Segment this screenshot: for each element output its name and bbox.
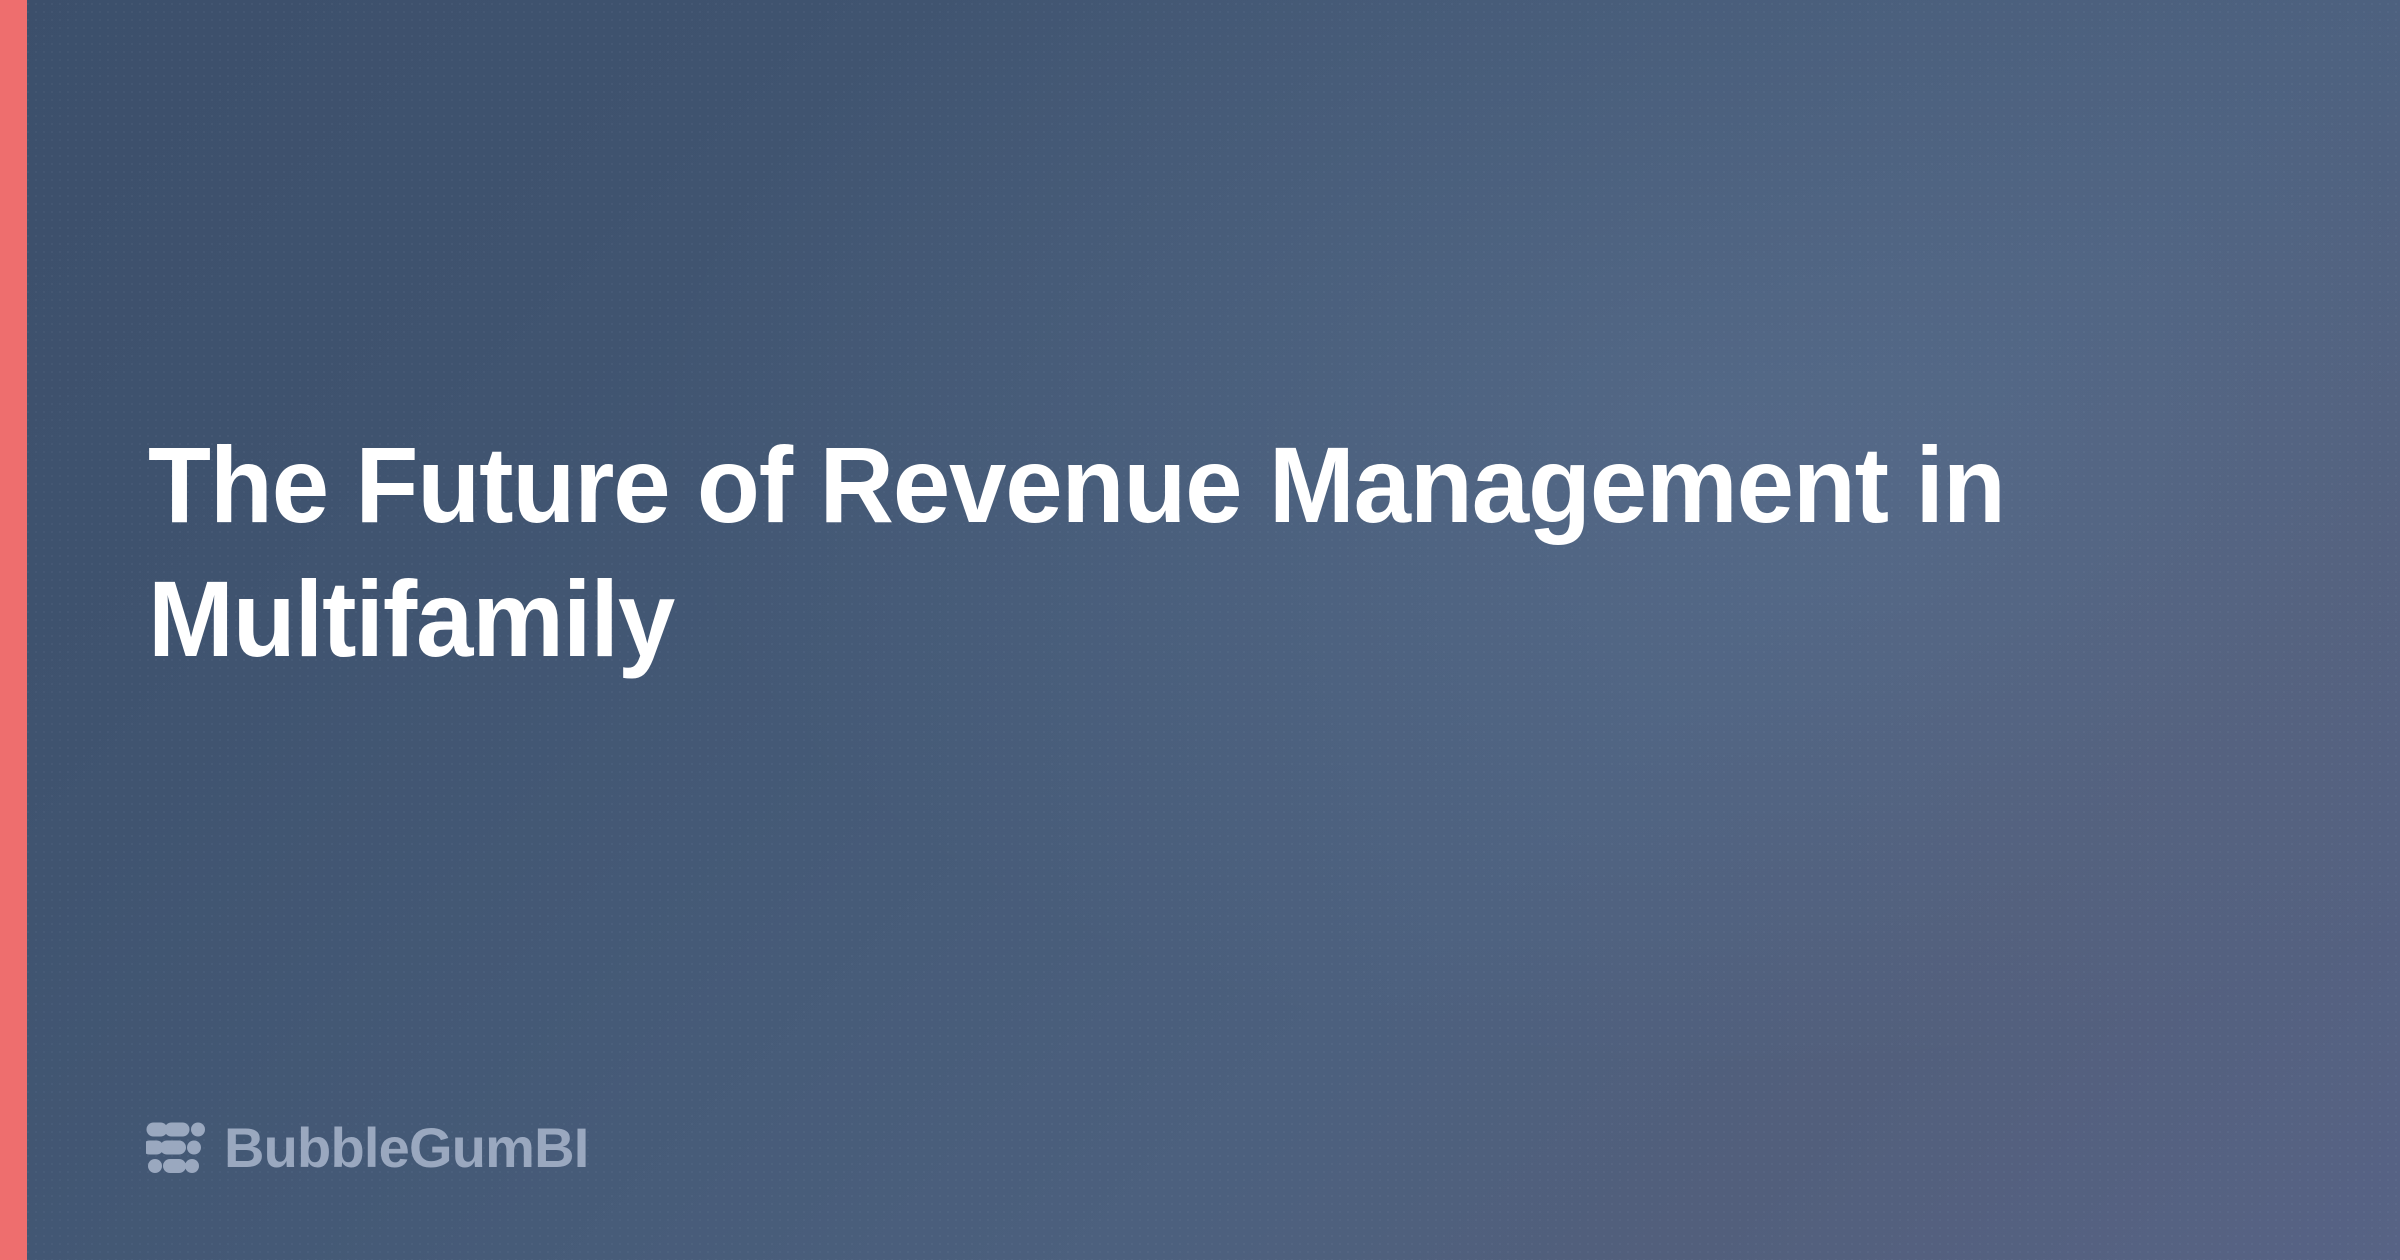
title-slide: The Future of Revenue Management in Mult… bbox=[0, 0, 2400, 1260]
bubble-grid-logo-icon bbox=[146, 1120, 206, 1176]
page-title: The Future of Revenue Management in Mult… bbox=[148, 418, 2115, 686]
brand-lockup: BubbleGumBI bbox=[146, 1120, 589, 1176]
brand-name: BubbleGumBI bbox=[224, 1120, 589, 1176]
left-accent-bar bbox=[0, 0, 27, 1260]
